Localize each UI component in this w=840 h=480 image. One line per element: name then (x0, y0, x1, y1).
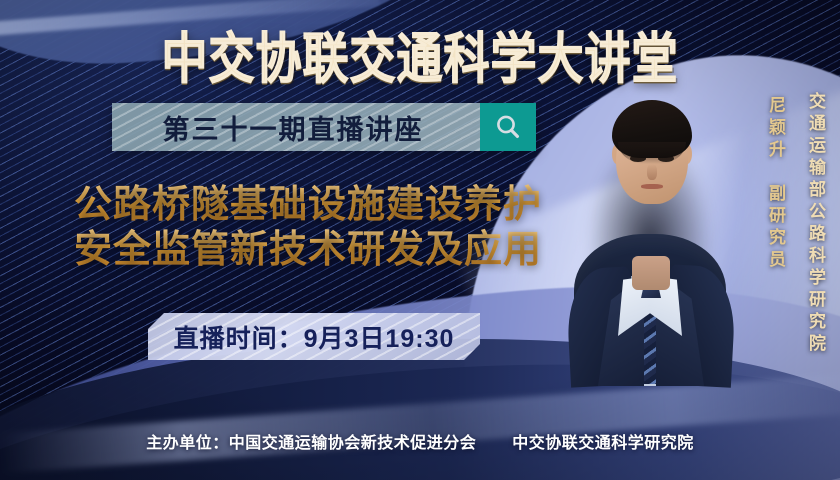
main-title: 中交协联交通科学大讲堂 (0, 16, 840, 94)
live-stream-poster: 中交协联交通科学大讲堂 第三十一期直播讲座 公路桥隧基础设施建设养护 安全监管新… (0, 0, 840, 480)
footer-institute: 中交协联交通科学研究院 (512, 435, 694, 452)
subject-title: 公路桥隧基础设施建设养护 安全监管新技术研发及应用 (28, 182, 588, 272)
subject-line-1: 公路桥隧基础设施建设养护 (28, 182, 588, 227)
footer-organizer-label: 主办单位：中国交通运输协会新技术促进分会 (146, 435, 476, 452)
speaker-organization: 交通运输部公路科学研究院 (803, 92, 828, 356)
broadcast-time-badge: 直播时间：9月3日19:30 (148, 313, 480, 360)
subject-line-2: 安全监管新技术研发及应用 (28, 227, 588, 272)
search-icon (493, 112, 523, 142)
episode-label: 第三十一期直播讲座 (112, 103, 480, 151)
speaker-name-title: 尼颖升 副研究员 (763, 96, 788, 272)
portrait-nose (647, 164, 657, 180)
episode-search-bar[interactable]: 第三十一期直播讲座 (112, 103, 536, 151)
footer-organizers: 主办单位：中国交通运输协会新技术促进分会 中交协联交通科学研究院 (0, 429, 840, 453)
broadcast-time-text: 直播时间：9月3日19:30 (174, 319, 455, 355)
speaker-portrait (572, 86, 728, 386)
search-button[interactable] (480, 103, 536, 151)
portrait-mouth (641, 184, 663, 189)
portrait-neck (632, 256, 670, 290)
